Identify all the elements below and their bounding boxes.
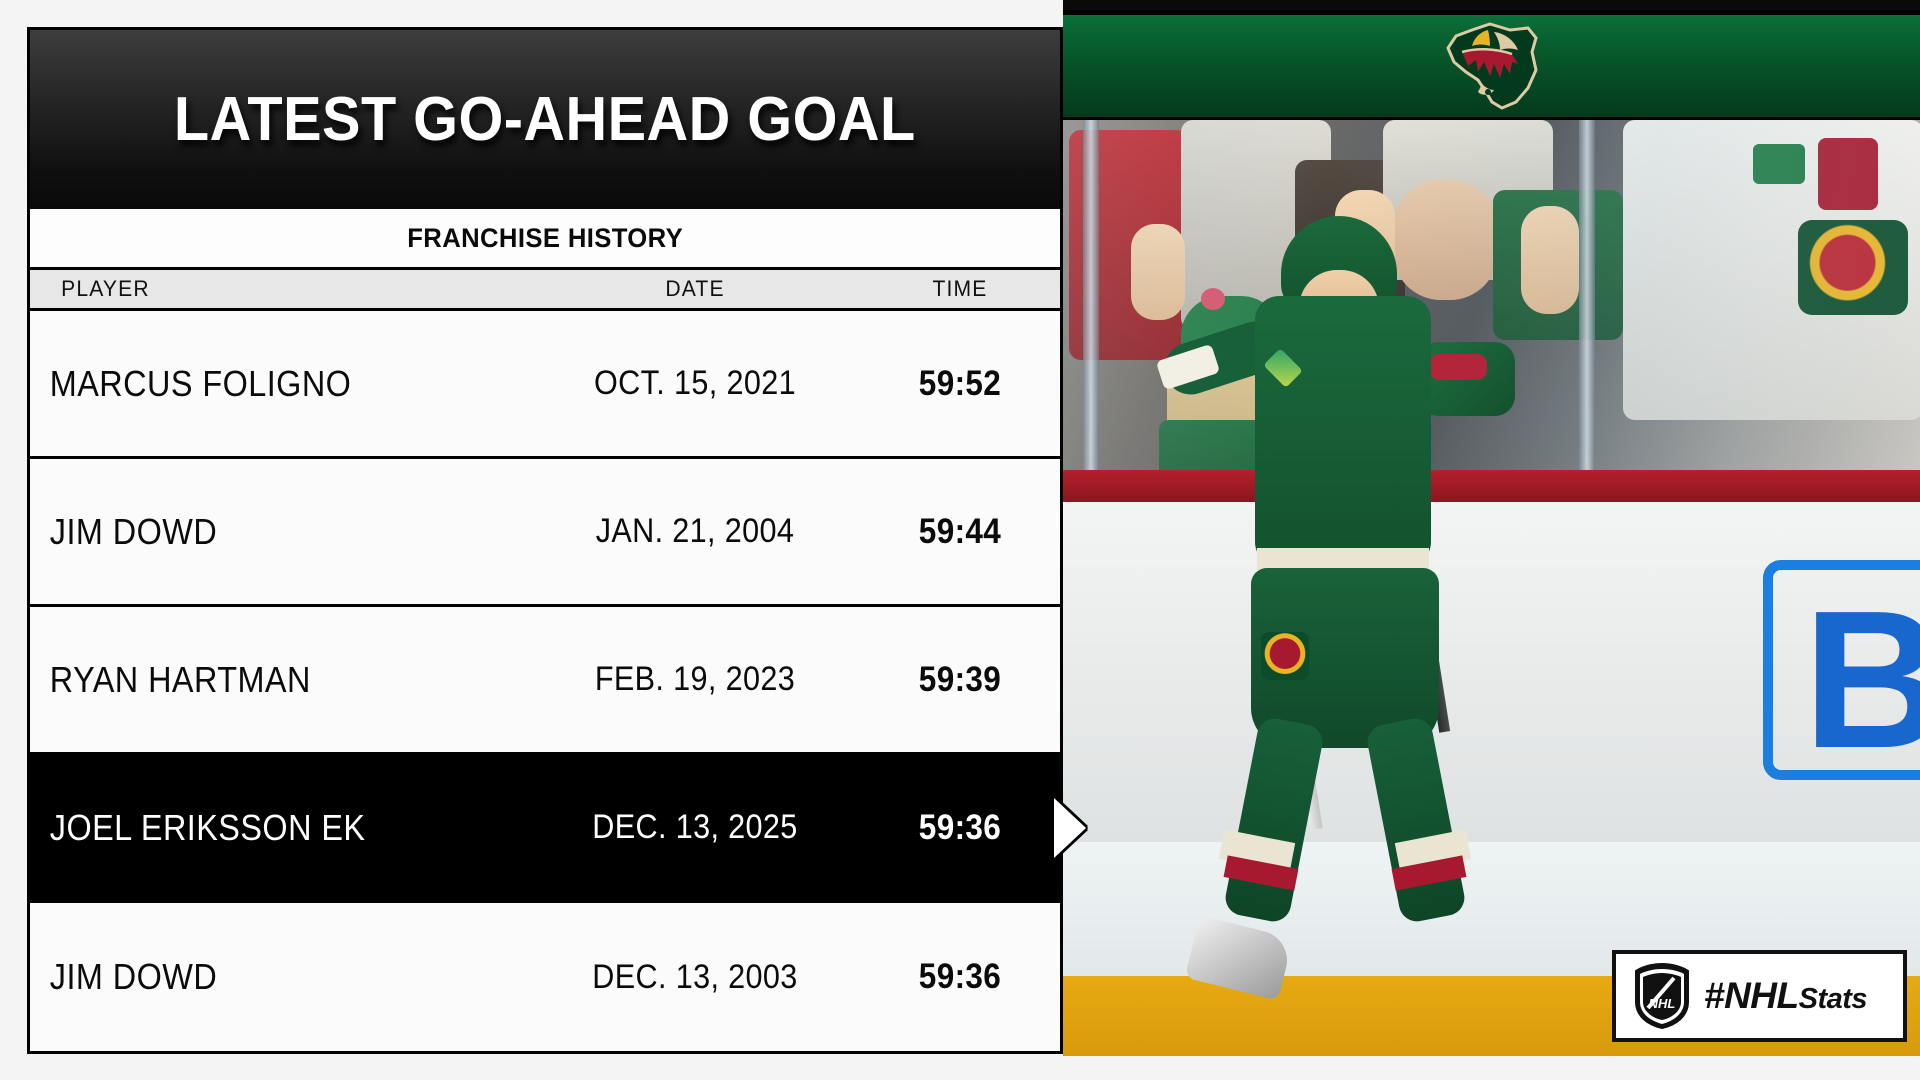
table-row[interactable]: JOEL ERIKSSON EKDEC. 13, 202559:36 — [30, 755, 1060, 903]
cell-time: 59:36 — [870, 957, 1050, 997]
cell-player: JOEL ERIKSSON EK — [30, 807, 480, 849]
cell-date: JAN. 21, 2004 — [547, 512, 844, 551]
title-bar: LATEST GO-AHEAD GOAL — [27, 27, 1063, 209]
hashtag-suffix: Stats — [1799, 983, 1867, 1015]
pants-team-logo — [1261, 632, 1309, 680]
table-row[interactable]: JIM DOWDJAN. 21, 200459:44 — [30, 459, 1060, 607]
page-title: LATEST GO-AHEAD GOAL — [174, 84, 916, 155]
table-row[interactable]: MARCUS FOLIGNOOCT. 15, 202159:52 — [30, 311, 1060, 459]
cell-date: DEC. 13, 2025 — [547, 808, 844, 847]
stats-table-body: MARCUS FOLIGNOOCT. 15, 202159:52JIM DOWD… — [27, 311, 1063, 1054]
svg-text:NHL: NHL — [1649, 996, 1676, 1011]
cell-player: JIM DOWD — [30, 956, 480, 998]
player-jersey — [1255, 296, 1431, 566]
cell-player: RYAN HARTMAN — [30, 659, 480, 701]
cell-time: 59:44 — [870, 512, 1050, 552]
player-skate — [1185, 915, 1294, 1000]
minnesota-wild-logo-icon — [1432, 18, 1552, 114]
nhl-shield-icon: NHL — [1632, 962, 1692, 1030]
infographic-root: LATEST GO-AHEAD GOAL FRANCHISE HISTORY P… — [0, 0, 1920, 1080]
cell-time: 59:52 — [870, 364, 1050, 404]
team-banner — [1063, 10, 1920, 120]
cell-time: 59:36 — [870, 808, 1050, 848]
cell-date: DEC. 13, 2003 — [547, 958, 844, 997]
column-header-player: PLAYER — [40, 276, 520, 302]
cell-date: FEB. 19, 2023 — [547, 660, 844, 699]
cell-date: OCT. 15, 2021 — [547, 364, 844, 403]
nhl-stats-hashtag: #NHLStats — [1704, 975, 1867, 1017]
subtitle-bar: FRANCHISE HISTORY — [27, 209, 1063, 267]
glove-accent — [1429, 354, 1487, 380]
column-header-date: DATE — [537, 276, 854, 302]
cell-player: JIM DOWD — [30, 511, 480, 553]
subtitle: FRANCHISE HISTORY — [407, 223, 683, 254]
hashtag-prefix: #NHL — [1704, 975, 1799, 1016]
cell-player: MARCUS FOLIGNO — [30, 363, 480, 405]
celebrating-player — [1063, 120, 1920, 1056]
highlight-row-arrow-icon — [1054, 798, 1086, 858]
player-photo-panel: B — [1063, 0, 1920, 1056]
table-row[interactable]: RYAN HARTMANFEB. 19, 202359:39 — [30, 607, 1060, 755]
column-header-time: TIME — [864, 276, 1056, 302]
stats-panel: LATEST GO-AHEAD GOAL FRANCHISE HISTORY P… — [27, 27, 1063, 1056]
cell-time: 59:39 — [870, 660, 1050, 700]
player-right-leg — [1365, 716, 1468, 925]
table-row[interactable]: JIM DOWDDEC. 13, 200359:36 — [30, 903, 1060, 1051]
celebration-photo: B — [1063, 120, 1920, 1056]
nhl-stats-branding: NHL #NHLStats — [1612, 950, 1907, 1042]
jersey-hem-stripe — [1257, 548, 1429, 570]
table-header-row: PLAYER DATE TIME — [27, 267, 1063, 311]
